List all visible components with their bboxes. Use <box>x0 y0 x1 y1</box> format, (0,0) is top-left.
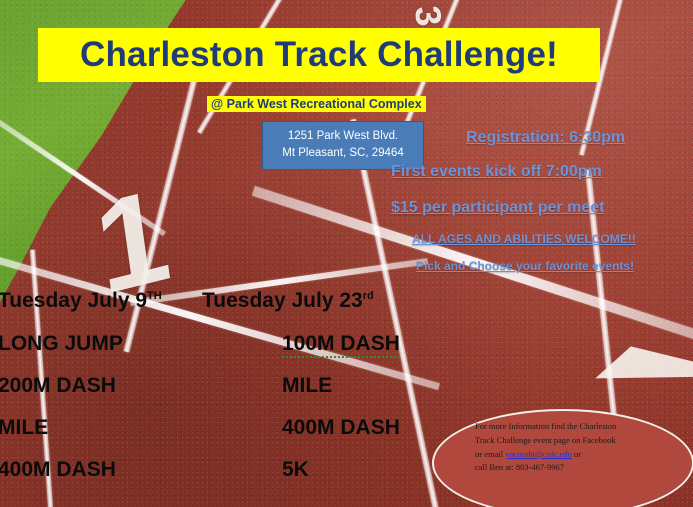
contact-line-3: or email yocumbt@cofc.edu or <box>475 448 655 462</box>
day1-event-3: 400M DASH <box>0 458 116 482</box>
day2-event-0: 100M DASH <box>282 332 400 356</box>
day2-heading-ordinal: rd <box>363 290 374 302</box>
day2-event-1: MILE <box>282 374 332 398</box>
registration-time: Registration: 6:30pm <box>466 129 625 147</box>
contact-info: For more Information find the Charleston… <box>475 420 655 477</box>
day2-event-0-label: 100M DASH <box>282 332 400 358</box>
contact-line-4: call Ben at: 803-467-9967 <box>475 461 655 476</box>
contact-line-1: For more Information find the Charleston <box>475 420 655 434</box>
address-line-1: 1251 Park West Blvd. <box>271 128 415 145</box>
day2-heading-text: Tuesday July 23 <box>202 289 363 312</box>
all-ages-welcome: ALL AGES AND ABILITIES WELCOME!! <box>412 232 636 246</box>
price-per-meet: $15 per participant per meet <box>391 199 604 217</box>
contact-email-suffix: or <box>572 449 581 459</box>
day1-event-0: LONG JUMP <box>0 332 123 356</box>
contact-line-2: Track Challenge event page on Facebook <box>475 434 655 448</box>
day1-event-2: MILE <box>0 416 48 440</box>
day1-event-1: 200M DASH <box>0 374 116 398</box>
day1-heading: Tuesday July 9TH <box>0 289 162 313</box>
pick-events-note: Pick and Choose your favorite events! <box>416 259 634 273</box>
contact-email-prefix: or email <box>475 449 505 459</box>
page-title: Charleston Track Challenge! <box>80 35 558 75</box>
day2-event-3: 5K <box>282 458 309 482</box>
first-events-time: First events kick off 7:00pm <box>391 163 602 181</box>
day1-heading-ordinal: TH <box>147 290 162 302</box>
title-banner: Charleston Track Challenge! <box>38 28 600 82</box>
venue-name: @ Park West Recreational Complex <box>207 96 426 112</box>
contact-phone: call Ben at: 803-467-9967 <box>475 461 564 476</box>
contact-email-link[interactable]: yocumbt@cofc.edu <box>505 449 572 459</box>
track-meet-poster: 1 3 Charleston Track Challenge! @ Park W… <box>0 0 693 507</box>
day2-heading: Tuesday July 23rd <box>202 289 374 313</box>
day2-event-2: 400M DASH <box>282 416 400 440</box>
day1-heading-text: Tuesday July 9 <box>0 289 147 312</box>
address-line-2: Mt Pleasant, SC, 29464 <box>271 145 415 162</box>
lane-number-3: 3 <box>409 4 447 28</box>
